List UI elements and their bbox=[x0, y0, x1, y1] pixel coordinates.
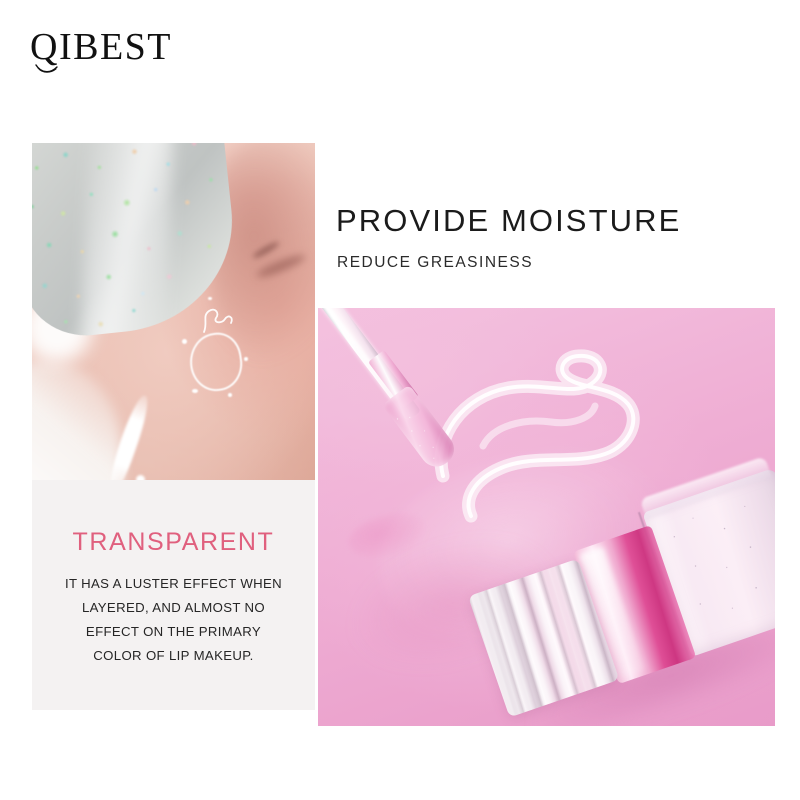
gloss-speck bbox=[244, 357, 248, 361]
hero-photo bbox=[318, 308, 775, 726]
page-subtitle: REDUCE GREASINESS bbox=[337, 254, 533, 272]
page-title: PROVIDE MOISTURE bbox=[336, 204, 681, 239]
product-marketing-page: QIBEST PROVIDE MOISTURE REDUCE GREASINES… bbox=[0, 0, 800, 800]
feature-body-line: COLOR OF LIP MAKEUP. bbox=[46, 644, 301, 668]
wand-gloss-drip bbox=[344, 507, 429, 565]
feature-title: TRANSPARENT bbox=[32, 528, 315, 557]
swatch-photo bbox=[32, 143, 315, 480]
feature-body-line: EFFECT ON THE PRIMARY bbox=[46, 620, 301, 644]
brand-logo: QIBEST bbox=[30, 28, 172, 66]
gloss-speck bbox=[208, 297, 212, 300]
feature-panel: TRANSPARENT IT HAS A LUSTER EFFECT WHEN … bbox=[32, 480, 315, 710]
brand-name: QIBEST bbox=[30, 26, 172, 68]
glitter-sheen bbox=[79, 143, 174, 342]
feature-body-line: LAYERED, AND ALMOST NO bbox=[46, 596, 301, 620]
gloss-speck bbox=[228, 393, 232, 397]
feature-body-line: IT HAS A LUSTER EFFECT WHEN bbox=[46, 572, 301, 596]
gloss-speck bbox=[182, 339, 187, 344]
feature-body: IT HAS A LUSTER EFFECT WHEN LAYERED, AND… bbox=[46, 572, 301, 668]
gloss-speck bbox=[192, 389, 198, 393]
